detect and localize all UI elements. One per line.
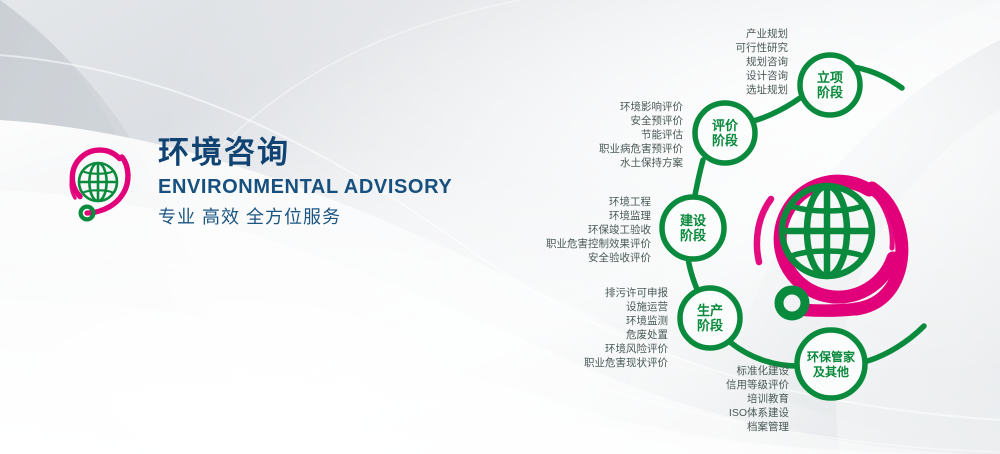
list-item: 可行性研究	[736, 41, 789, 54]
node-label-steward-line1: 环保管家	[807, 349, 856, 364]
node-production[interactable]: 生产 阶段	[680, 288, 740, 348]
list-item: ISO体系建设	[729, 406, 790, 419]
node-items-construction: 环境工程 环境监理 环保竣工验收 职业危害控制效果评价 安全验收评价	[546, 195, 651, 264]
list-item: 培训教育	[747, 392, 789, 405]
list-item: 产业规划	[746, 27, 788, 40]
node-items-steward: 标准化建设 信用等级评价 培训教育 ISO体系建设 档案管理	[726, 364, 789, 433]
list-item: 职业危害控制效果评价	[546, 237, 651, 250]
node-label-initiation-line1: 立项	[817, 70, 843, 85]
node-label-evaluation-line2: 阶段	[712, 133, 738, 148]
list-item: 设施运营	[626, 300, 668, 313]
node-items-production: 排污许可申报 设施运营 环境监测 危废处置 环境风险评价 职业危害现状评价	[584, 286, 668, 369]
process-diagram: 立项 阶段 产业规划 可行性研究 规划咨询 设计咨询 选址规划 评价 阶段 环境…	[0, 0, 1000, 454]
list-item: 环境影响评价	[620, 100, 683, 113]
list-item: 安全验收评价	[588, 251, 651, 264]
node-label-construction-line2: 阶段	[680, 228, 706, 243]
node-label-construction-line1: 建设	[680, 213, 707, 228]
environmental-advisory-banner: 环境咨询 ENVIRONMENTAL ADVISORY 专业 高效 全方位服务	[0, 0, 1000, 454]
list-item: 环境工程	[609, 195, 651, 208]
node-items-initiation: 产业规划 可行性研究 规划咨询 设计咨询 选址规划	[736, 27, 789, 96]
node-steward[interactable]: 环保管家 及其他	[797, 330, 865, 398]
list-item: 环境风险评价	[605, 342, 668, 355]
list-item: 档案管理	[747, 420, 789, 433]
list-item: 环境监测	[626, 314, 668, 327]
list-item: 标准化建设	[737, 364, 790, 377]
node-initiation[interactable]: 立项 阶段	[800, 55, 860, 115]
list-item: 设计咨询	[746, 69, 788, 82]
list-item: 职业病危害预评价	[599, 142, 683, 155]
globe-icon	[782, 186, 872, 276]
list-item: 环境监理	[609, 209, 651, 222]
node-label-steward-line2: 及其他	[813, 364, 849, 379]
list-item: 职业危害现状评价	[584, 356, 668, 369]
list-item: 信用等级评价	[726, 378, 789, 391]
list-item: 选址规划	[746, 83, 788, 96]
node-items-evaluation: 环境影响评价 安全预评价 节能评估 职业病危害预评价 水土保持方案	[599, 100, 683, 169]
small-circle-icon	[779, 290, 805, 316]
list-item: 规划咨询	[746, 55, 788, 68]
center-logo	[757, 181, 902, 316]
node-construction[interactable]: 建设 阶段	[662, 197, 724, 259]
list-item: 排污许可申报	[605, 286, 668, 299]
list-item: 节能评估	[641, 128, 683, 141]
node-label-evaluation-line1: 评价	[712, 118, 739, 133]
node-label-production-line1: 生产	[697, 303, 723, 318]
list-item: 危废处置	[626, 328, 668, 341]
list-item: 水土保持方案	[620, 156, 683, 169]
list-item: 环保竣工验收	[588, 223, 651, 236]
node-circle-steward[interactable]	[797, 330, 865, 398]
list-item: 安全预评价	[631, 114, 684, 127]
node-evaluation[interactable]: 评价 阶段	[695, 103, 755, 163]
node-label-initiation-line2: 阶段	[817, 85, 843, 100]
node-label-production-line2: 阶段	[697, 318, 723, 333]
